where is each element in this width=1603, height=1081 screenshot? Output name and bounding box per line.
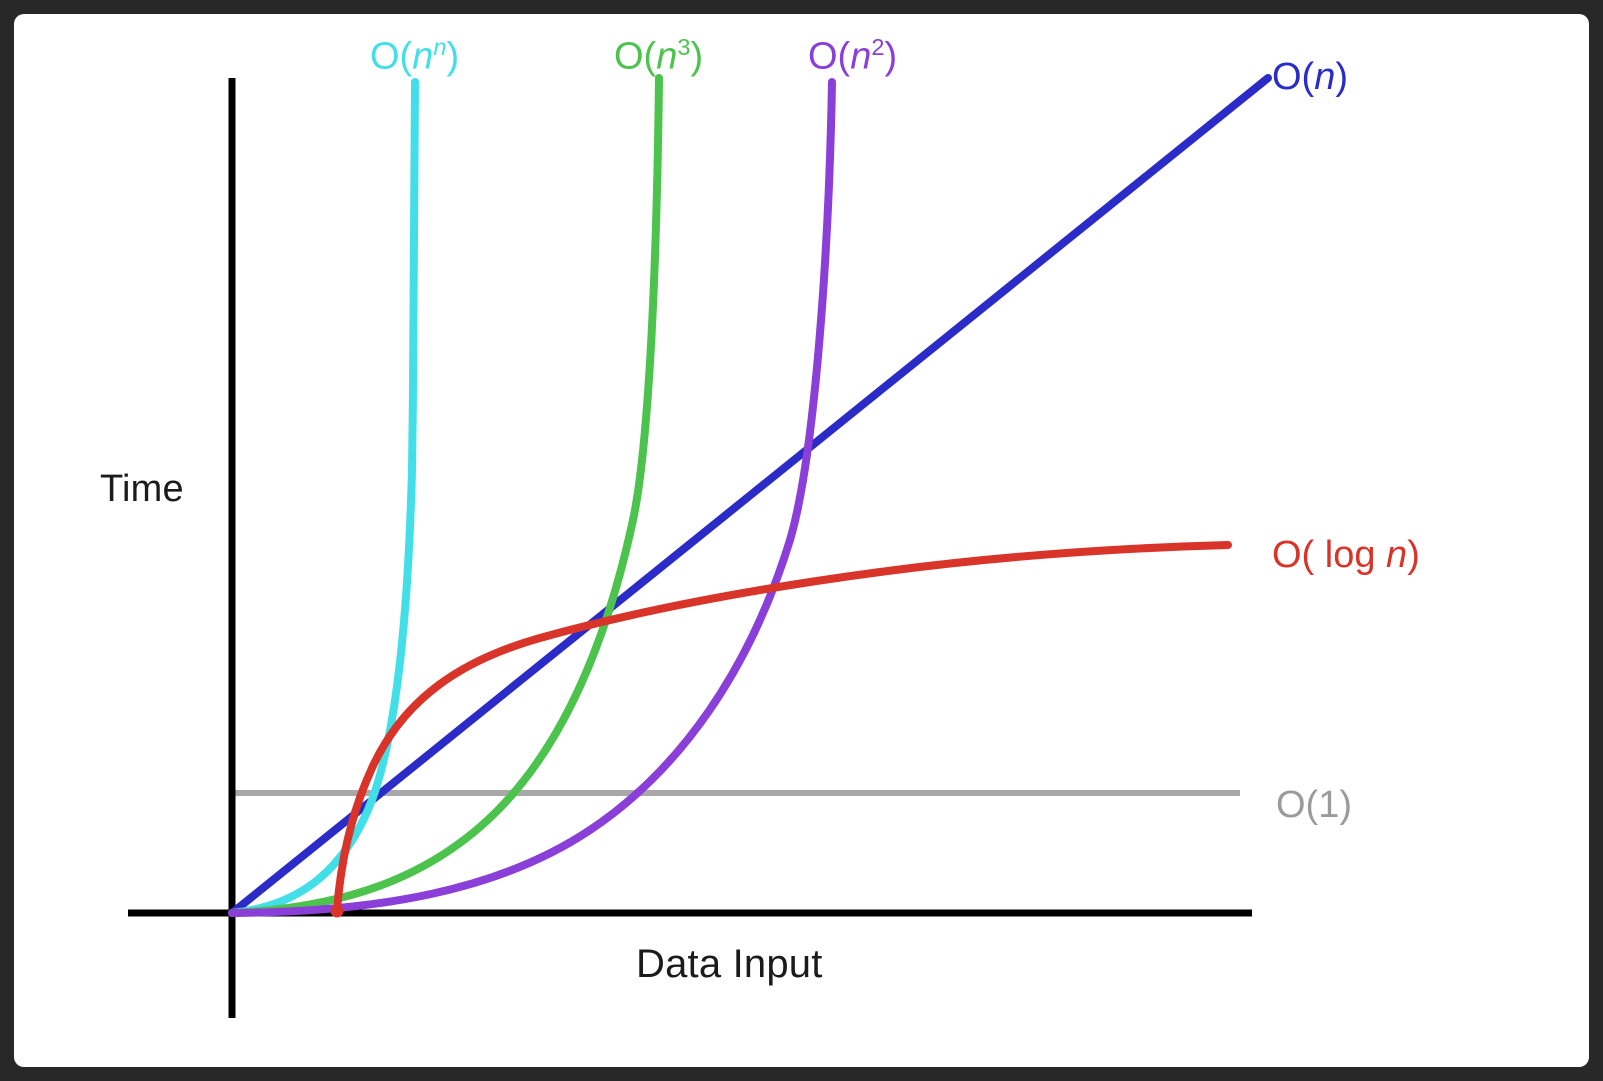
chart-card: Time Data Input O(nn) O(n3) O(n2) O(n) O… — [14, 14, 1589, 1067]
label-exponent: n — [433, 34, 446, 60]
label-suffix: ) — [1335, 56, 1348, 98]
label-base: n — [412, 36, 433, 78]
label-prefix: O( — [1272, 56, 1314, 98]
label-prefix: O( — [614, 36, 656, 78]
curve-linear — [232, 78, 1268, 913]
label-suffix: ) — [446, 36, 459, 78]
x-axis-label: Data Input — [636, 942, 823, 987]
label-exponent: 3 — [677, 34, 690, 60]
label-base: n — [850, 36, 871, 78]
label-suffix: ) — [1407, 534, 1420, 576]
curve-n-cubed — [232, 78, 659, 913]
label-base: n — [1314, 56, 1335, 98]
label-prefix: O( — [370, 36, 412, 78]
curve-label-n-cubed: O(n3) — [614, 36, 703, 76]
curve-label-constant: O(1) — [1276, 786, 1352, 824]
curve-label-n-to-the-n: O(nn) — [370, 36, 459, 76]
label-exponent: 2 — [871, 34, 884, 60]
curve-logarithmic — [337, 545, 1228, 911]
label-prefix: O( — [808, 36, 850, 78]
y-axis-label: Time — [100, 468, 184, 511]
label-suffix: ) — [884, 36, 897, 78]
curve-label-n-squared: O(n2) — [808, 36, 897, 76]
label-base: n — [1386, 534, 1407, 576]
curve-label-logarithmic: O( log n) — [1272, 536, 1420, 574]
label-suffix: ) — [690, 36, 703, 78]
figure-frame: Time Data Input O(nn) O(n3) O(n2) O(n) O… — [0, 0, 1603, 1081]
curve-label-linear: O(n) — [1272, 58, 1348, 96]
label-prefix: O( log — [1272, 534, 1386, 576]
label-base: n — [656, 36, 677, 78]
